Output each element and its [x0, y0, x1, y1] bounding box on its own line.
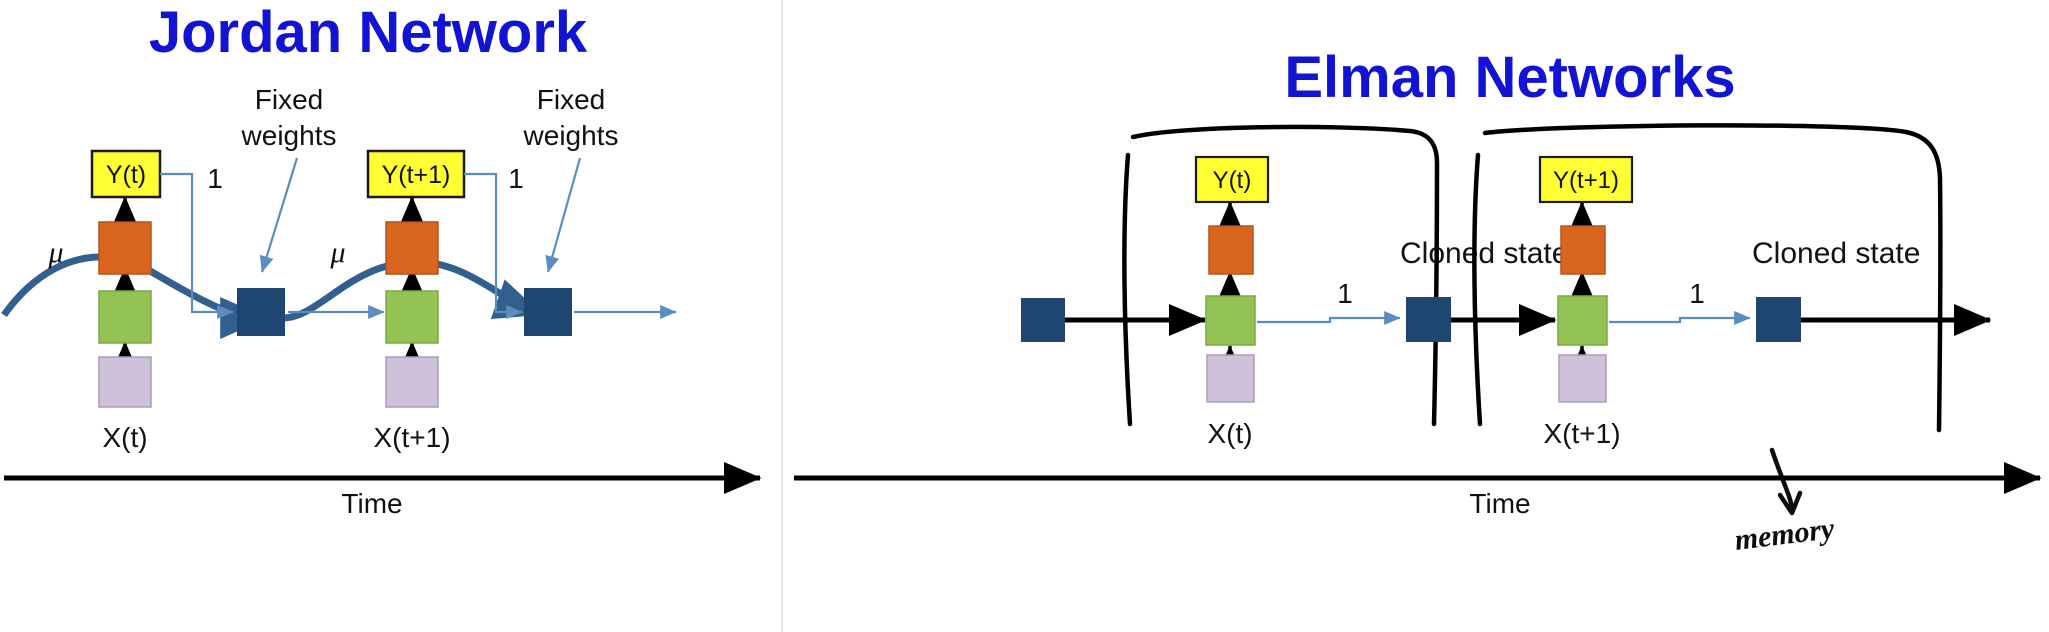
elman-input-label-2: X(t+1): [1543, 418, 1620, 449]
elman-clone-arrow-1: [1257, 318, 1400, 322]
context-box-2: [524, 288, 572, 336]
hidden-box-1: [99, 222, 151, 274]
fixed-weights-label-1-line1: Fixed: [255, 84, 323, 115]
context-box-1: [237, 288, 285, 336]
elman-state-box-1: [1206, 296, 1255, 345]
elman-time-label: Time: [1469, 488, 1530, 519]
elman-context-box-2: [1756, 297, 1801, 342]
fixed-weights-label-2-line1: Fixed: [537, 84, 605, 115]
input-label-2: X(t+1): [373, 422, 450, 453]
elman-panel: Y(t) X(t) 1 Cloned state Y(t+1) X(t+1) 1…: [794, 125, 2040, 557]
weight-label-2: 1: [508, 163, 524, 194]
fixed-weights-pointer-2: [548, 158, 580, 272]
elman-clone-arrow-2: [1609, 318, 1750, 322]
fixed-weights-label-1-line2: weights: [241, 120, 337, 151]
input-label-1: X(t): [102, 422, 147, 453]
elman-input-label-1: X(t): [1207, 418, 1252, 449]
fixed-weights-pointer-1: [262, 158, 297, 272]
cloned-state-label-1: Cloned state: [1400, 237, 1568, 270]
elman-output-label-2: Y(t+1): [1553, 167, 1619, 194]
elman-context-box-0: [1021, 298, 1065, 342]
elman-hidden-box-1: [1209, 226, 1253, 274]
elman-state-box-2: [1558, 296, 1607, 345]
elman-title: Elman Networks: [1284, 45, 1735, 110]
elman-input-box-1: [1207, 355, 1254, 402]
cloned-state-label-2: Cloned state: [1752, 237, 1920, 270]
weight-label-1: 1: [207, 163, 223, 194]
elman-weight-label-1: 1: [1337, 278, 1353, 309]
clone-bracket-2-left: [1474, 155, 1480, 424]
hidden-box-2: [386, 222, 438, 274]
memory-handwritten-label: memory: [1733, 512, 1837, 557]
state-box-2: [386, 291, 438, 343]
elman-hidden-box-2: [1561, 226, 1605, 274]
jordan-time-label: Time: [341, 488, 402, 519]
mu-label-2: μ: [329, 236, 345, 269]
clone-bracket-1-left: [1124, 155, 1130, 424]
output-label-1: Y(t): [106, 161, 146, 189]
jordan-title: Jordan Network: [149, 0, 588, 65]
fixed-weights-label-2-line2: weights: [523, 120, 619, 151]
elman-input-box-2: [1559, 355, 1606, 402]
state-box-1: [99, 291, 151, 343]
clone-bracket-1-top: [1133, 127, 1437, 424]
jordan-panel: Y(t) X(t) μ 1 Y(t+1) X(t+1) μ 1 Fixed we…: [4, 84, 760, 519]
input-box-2: [386, 357, 438, 407]
mu-label-1: μ: [47, 236, 63, 269]
input-box-1: [99, 357, 151, 407]
output-label-2: Y(t+1): [382, 161, 451, 189]
feedback-path-1: [160, 174, 233, 312]
elman-context-box-1: [1406, 297, 1451, 342]
elman-weight-label-2: 1: [1689, 278, 1705, 309]
elman-output-label-1: Y(t): [1213, 167, 1252, 194]
diagram-canvas: Jordan Network Elman Networks Y(t) X(t) …: [0, 0, 2049, 632]
